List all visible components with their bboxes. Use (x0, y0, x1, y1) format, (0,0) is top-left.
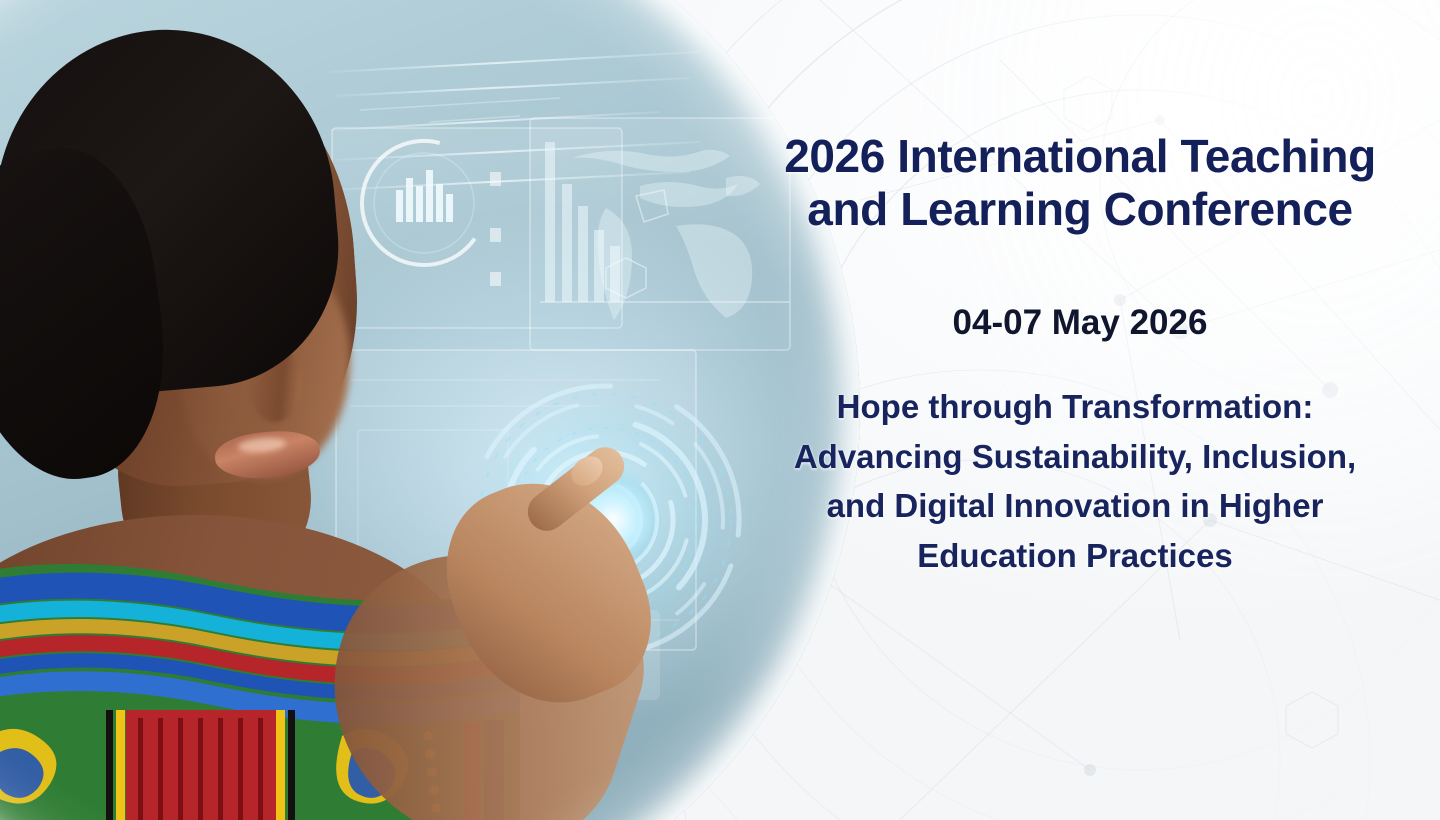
conference-date: 04-07 May 2026 (722, 303, 1438, 343)
conference-theme-line-4: Education Practices (710, 531, 1440, 581)
banner-text-column: 2026 International Teaching and Learning… (700, 0, 1440, 820)
conference-title: 2026 International Teaching and Learning… (722, 130, 1438, 237)
conference-theme: Hope through Transformation: Advancing S… (710, 382, 1440, 580)
conference-theme-line-3: and Digital Innovation in Higher (710, 481, 1440, 531)
conference-theme-line-1: Hope through Transformation: (710, 382, 1440, 432)
conference-theme-line-2: Advancing Sustainability, Inclusion, (710, 432, 1440, 482)
conference-title-line-1: 2026 International Teaching (722, 130, 1438, 183)
conference-title-line-2: and Learning Conference (722, 183, 1438, 236)
conference-banner: 2026 International Teaching and Learning… (0, 0, 1440, 820)
